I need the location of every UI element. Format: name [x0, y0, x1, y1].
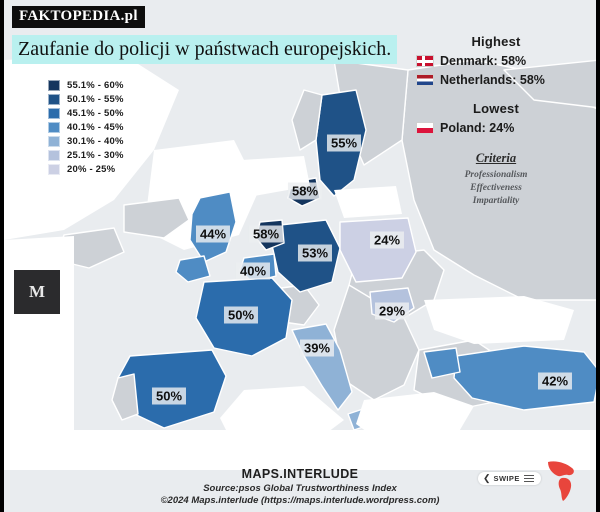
legend-item: 40.1% - 45%: [48, 122, 124, 133]
legend-item: 25.1% - 30%: [48, 150, 124, 161]
map-value-label-great-britain: 44%: [196, 226, 230, 243]
legend-item: 20% - 25%: [48, 164, 124, 175]
map-value-label-netherlands: 58%: [249, 226, 283, 243]
legend-item: 55.1% - 60%: [48, 80, 124, 91]
legend-item: 30.1% - 40%: [48, 136, 124, 147]
page-title: Zaufanie do policji w państwach europejs…: [12, 35, 397, 64]
map-value-label-turkey: 42%: [538, 373, 572, 390]
legend-swatch: [48, 80, 60, 91]
legend-label: 50.1% - 55%: [67, 94, 124, 105]
map-value-label-poland: 24%: [370, 232, 404, 249]
criteria-block: Criteria Professionalism Effectiveness I…: [408, 151, 584, 208]
map-value-label-hungary: 29%: [375, 303, 409, 320]
legend-swatch: [48, 164, 60, 175]
swipe-pill[interactable]: ❮ SWIPE: [478, 472, 541, 485]
criteria-item: Impartiality: [408, 195, 584, 208]
lowest-value: Poland: 24%: [440, 121, 514, 135]
criteria-item: Professionalism: [408, 169, 584, 182]
flag-poland-icon: [416, 122, 434, 134]
swipe-label: SWIPE: [494, 474, 520, 483]
criteria-heading: Criteria: [408, 151, 584, 166]
lowest-heading: Lowest: [408, 101, 584, 116]
highest-row: Netherlands: 58%: [408, 73, 584, 87]
menu-lines-icon: [524, 475, 534, 483]
maps-interlude-watermark-icon: M: [14, 270, 60, 314]
lowest-row: Poland: 24%: [408, 121, 584, 135]
legend-label: 40.1% - 45%: [67, 122, 124, 133]
faktopedia-brand-tag: FAKTOPEDIA.pl: [12, 6, 145, 28]
legend-item: 50.1% - 55%: [48, 94, 124, 105]
americas-map-icon: [542, 460, 586, 502]
highest-value: Netherlands: 58%: [440, 73, 545, 87]
legend-label: 25.1% - 30%: [67, 150, 124, 161]
highest-value: Denmark: 58%: [440, 54, 526, 68]
swipe-badge[interactable]: ❮ SWIPE: [478, 460, 588, 500]
legend-swatch: [48, 108, 60, 119]
legend-item: 45.1% - 50%: [48, 108, 124, 119]
map-value-label-spain: 50%: [152, 388, 186, 405]
legend-swatch: [48, 136, 60, 147]
highest-heading: Highest: [408, 34, 584, 49]
flag-denmark-icon: [416, 55, 434, 67]
legend-label: 30.1% - 40%: [67, 136, 124, 147]
map-infographic: FAKTOPEDIA.pl Zaufanie do policji w pańs…: [0, 0, 600, 512]
highest-row: Denmark: 58%: [408, 54, 584, 68]
legend-swatch: [48, 94, 60, 105]
map-value-label-denmark: 58%: [288, 183, 322, 200]
map-value-label-france: 50%: [224, 307, 258, 324]
chevron-left-icon: ❮: [483, 474, 491, 483]
map-value-label-germany: 53%: [298, 245, 332, 262]
legend-label: 20% - 25%: [67, 164, 115, 175]
flag-netherlands-icon: [416, 74, 434, 86]
spacer: [408, 92, 584, 101]
legend-label: 45.1% - 50%: [67, 108, 124, 119]
map-value-label-sweden: 55%: [327, 135, 361, 152]
map-value-label-italy: 39%: [300, 340, 334, 357]
ranking-panel: Highest Denmark: 58% Netherlands: 58% Lo…: [408, 34, 584, 208]
map-value-label-belgium: 40%: [236, 263, 270, 280]
map-legend: 55.1% - 60% 50.1% - 55% 45.1% - 50% 40.1…: [48, 80, 124, 178]
legend-swatch: [48, 122, 60, 133]
legend-label: 55.1% - 60%: [67, 80, 124, 91]
legend-swatch: [48, 150, 60, 161]
criteria-item: Effectiveness: [408, 182, 584, 195]
